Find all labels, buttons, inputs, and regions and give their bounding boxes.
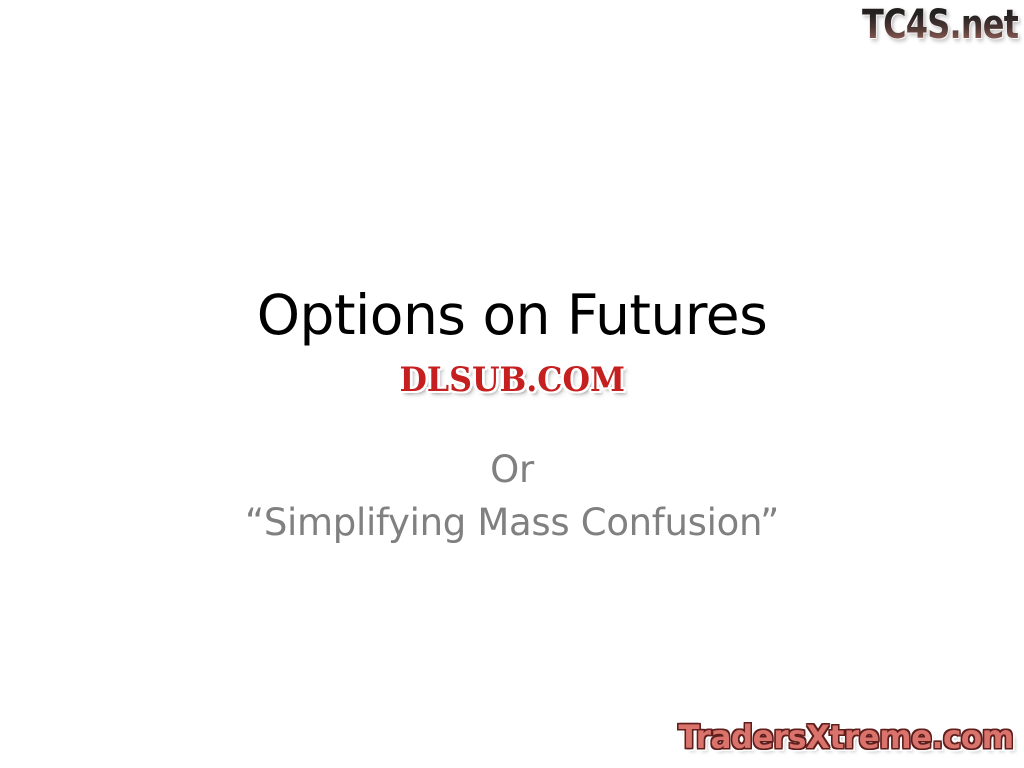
subtitle-block: Or “Simplifying Mass Confusion” bbox=[0, 443, 1024, 549]
subtitle-line-2: “Simplifying Mass Confusion” bbox=[0, 496, 1024, 549]
tc4s-watermark: TC4S.net bbox=[862, 2, 1018, 48]
page-title: Options on Futures bbox=[0, 282, 1024, 348]
subtitle-line-1: Or bbox=[0, 443, 1024, 496]
dlsub-watermark-text: DLSUB.COM bbox=[399, 360, 625, 400]
presentation-slide: TC4S.net Options on Futures DLSUB.COM Or… bbox=[0, 0, 1024, 768]
tradersxtreme-watermark: TradersXtreme.com bbox=[679, 718, 1014, 756]
dlsub-watermark: DLSUB.COM bbox=[0, 360, 1024, 400]
title-block: Options on Futures bbox=[0, 282, 1024, 348]
